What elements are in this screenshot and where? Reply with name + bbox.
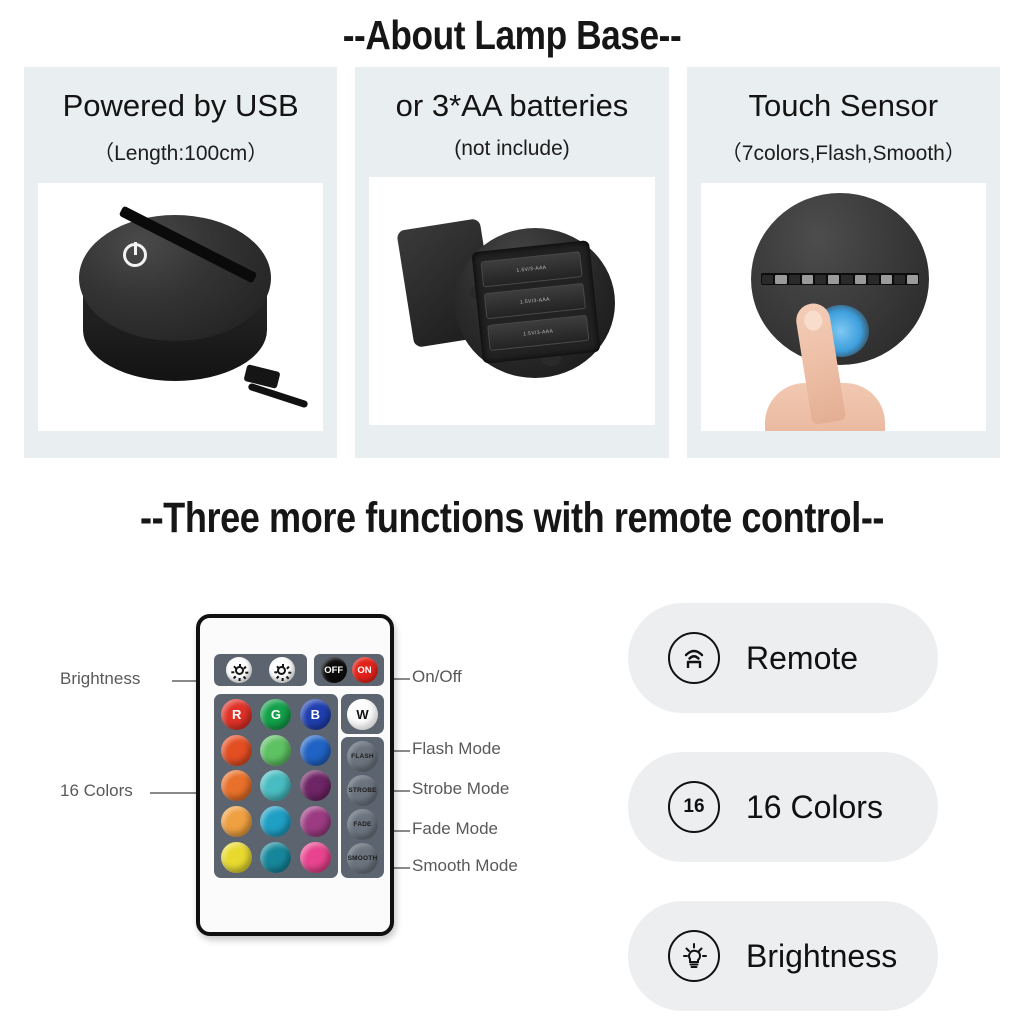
feature-pill-remote[interactable]: Remote — [628, 603, 938, 713]
touch-sensor-illustration — [733, 187, 953, 427]
callout-on-off: On/Off — [412, 667, 462, 687]
feature-card-batteries: or 3*AA batteries (not include) 1.5V/3-A… — [355, 67, 668, 458]
color-button[interactable] — [300, 842, 331, 873]
color-button-blue[interactable]: B — [300, 699, 331, 730]
color-button[interactable] — [300, 806, 331, 837]
callout-brightness: Brightness — [60, 669, 140, 689]
on-button[interactable]: ON — [352, 657, 378, 683]
feature-pill-brightness[interactable]: Brightness — [628, 901, 938, 1011]
callout-16-colors: 16 Colors — [60, 781, 133, 801]
lamp-base-top — [79, 215, 271, 341]
feature-pill-16-colors[interactable]: 16 16 Colors — [628, 752, 938, 862]
color-button-red[interactable]: R — [221, 699, 252, 730]
sixteen-circle-icon: 16 — [668, 781, 720, 833]
card-title: Touch Sensor — [749, 89, 939, 123]
color-button[interactable] — [300, 735, 331, 766]
usb-cable — [247, 383, 308, 409]
lamp-base-underside: 1.5V/3-AAA 1.5V/3-AAA 1.5V/3-AAA — [455, 228, 615, 378]
brightness-down-button[interactable] — [226, 657, 252, 683]
feature-card-touch-sensor: Touch Sensor （7colors,Flash,Smooth） — [687, 67, 1000, 458]
lamp-base-illustration — [65, 207, 297, 407]
color-button-white[interactable]: W — [347, 699, 378, 730]
battery-compartment-photo: 1.5V/3-AAA 1.5V/3-AAA 1.5V/3-AAA — [369, 177, 654, 425]
color-button-pad: R G B — [214, 694, 338, 878]
feature-pill-label: Brightness — [746, 938, 897, 975]
color-button[interactable] — [260, 806, 291, 837]
color-button[interactable] — [260, 842, 291, 873]
callout-smooth-mode: Smooth Mode — [412, 856, 518, 876]
battery-slot: 1.5V/3-AAA — [484, 283, 586, 319]
fade-mode-button[interactable]: FADE — [347, 809, 378, 840]
lamp-base-disc — [751, 193, 929, 365]
strobe-mode-button[interactable]: STROBE — [347, 775, 378, 806]
sun-icon — [235, 666, 244, 675]
feature-cards-row: Powered by USB （Length:100cm） or 3*AA ba… — [24, 67, 1000, 458]
section-title-remote-functions: --Three more functions with remote contr… — [82, 494, 942, 543]
card-title: or 3*AA batteries — [396, 89, 629, 123]
color-button[interactable] — [260, 735, 291, 766]
fingernail — [803, 309, 824, 332]
color-button-green[interactable]: G — [260, 699, 291, 730]
card-title: Powered by USB — [63, 89, 299, 123]
callout-fade-mode: Fade Mode — [412, 819, 498, 839]
callout-strobe-mode: Strobe Mode — [412, 779, 509, 799]
color-button[interactable] — [221, 806, 252, 837]
battery-base-illustration: 1.5V/3-AAA 1.5V/3-AAA 1.5V/3-AAA — [397, 196, 627, 406]
sixteen-icon-text: 16 — [683, 796, 704, 818]
remote-top-row: OFF ON — [214, 654, 384, 686]
card-subtitle: （Length:100cm） — [93, 137, 268, 167]
sun-icon — [277, 666, 286, 675]
feature-card-usb: Powered by USB （Length:100cm） — [24, 67, 337, 458]
feature-pill-label: Remote — [746, 640, 858, 677]
card-subtitle: (not include) — [454, 137, 570, 161]
bulb-icon — [668, 930, 720, 982]
touch-sensor-photo — [701, 183, 986, 431]
mode-button-pad: FLASH STROBE FADE SMOOTH — [341, 737, 384, 878]
smooth-mode-button[interactable]: SMOOTH — [347, 843, 378, 874]
remote-control-illustration: OFF ON R G B W FLASH STROBE — [196, 614, 394, 936]
power-icon — [123, 243, 147, 267]
battery-slot: 1.5V/3-AAA — [480, 251, 582, 287]
off-button[interactable]: OFF — [321, 657, 347, 683]
card-subtitle: （7colors,Flash,Smooth） — [721, 137, 966, 167]
feature-pill-label: 16 Colors — [746, 789, 883, 826]
remote-signal-icon — [668, 632, 720, 684]
power-pad: OFF ON — [314, 654, 384, 686]
battery-slot: 1.5V/3-AAA — [487, 315, 589, 351]
led-strip — [761, 273, 919, 285]
page-title-about-lamp-base: --About Lamp Base-- — [72, 12, 953, 59]
usb-lamp-base-photo — [38, 183, 323, 431]
flash-mode-button[interactable]: FLASH — [347, 741, 378, 772]
brightness-up-button[interactable] — [269, 657, 295, 683]
battery-bay: 1.5V/3-AAA 1.5V/3-AAA 1.5V/3-AAA — [471, 240, 600, 364]
white-button-pad: W — [341, 694, 384, 734]
color-button[interactable] — [221, 842, 252, 873]
callout-flash-mode: Flash Mode — [412, 739, 501, 759]
remote-button-grid: R G B W FLASH STROBE FADE SMOOTH — [214, 694, 384, 878]
color-button[interactable] — [221, 770, 252, 801]
color-button[interactable] — [221, 735, 252, 766]
color-button[interactable] — [300, 770, 331, 801]
brightness-pad — [214, 654, 307, 686]
color-button[interactable] — [260, 770, 291, 801]
